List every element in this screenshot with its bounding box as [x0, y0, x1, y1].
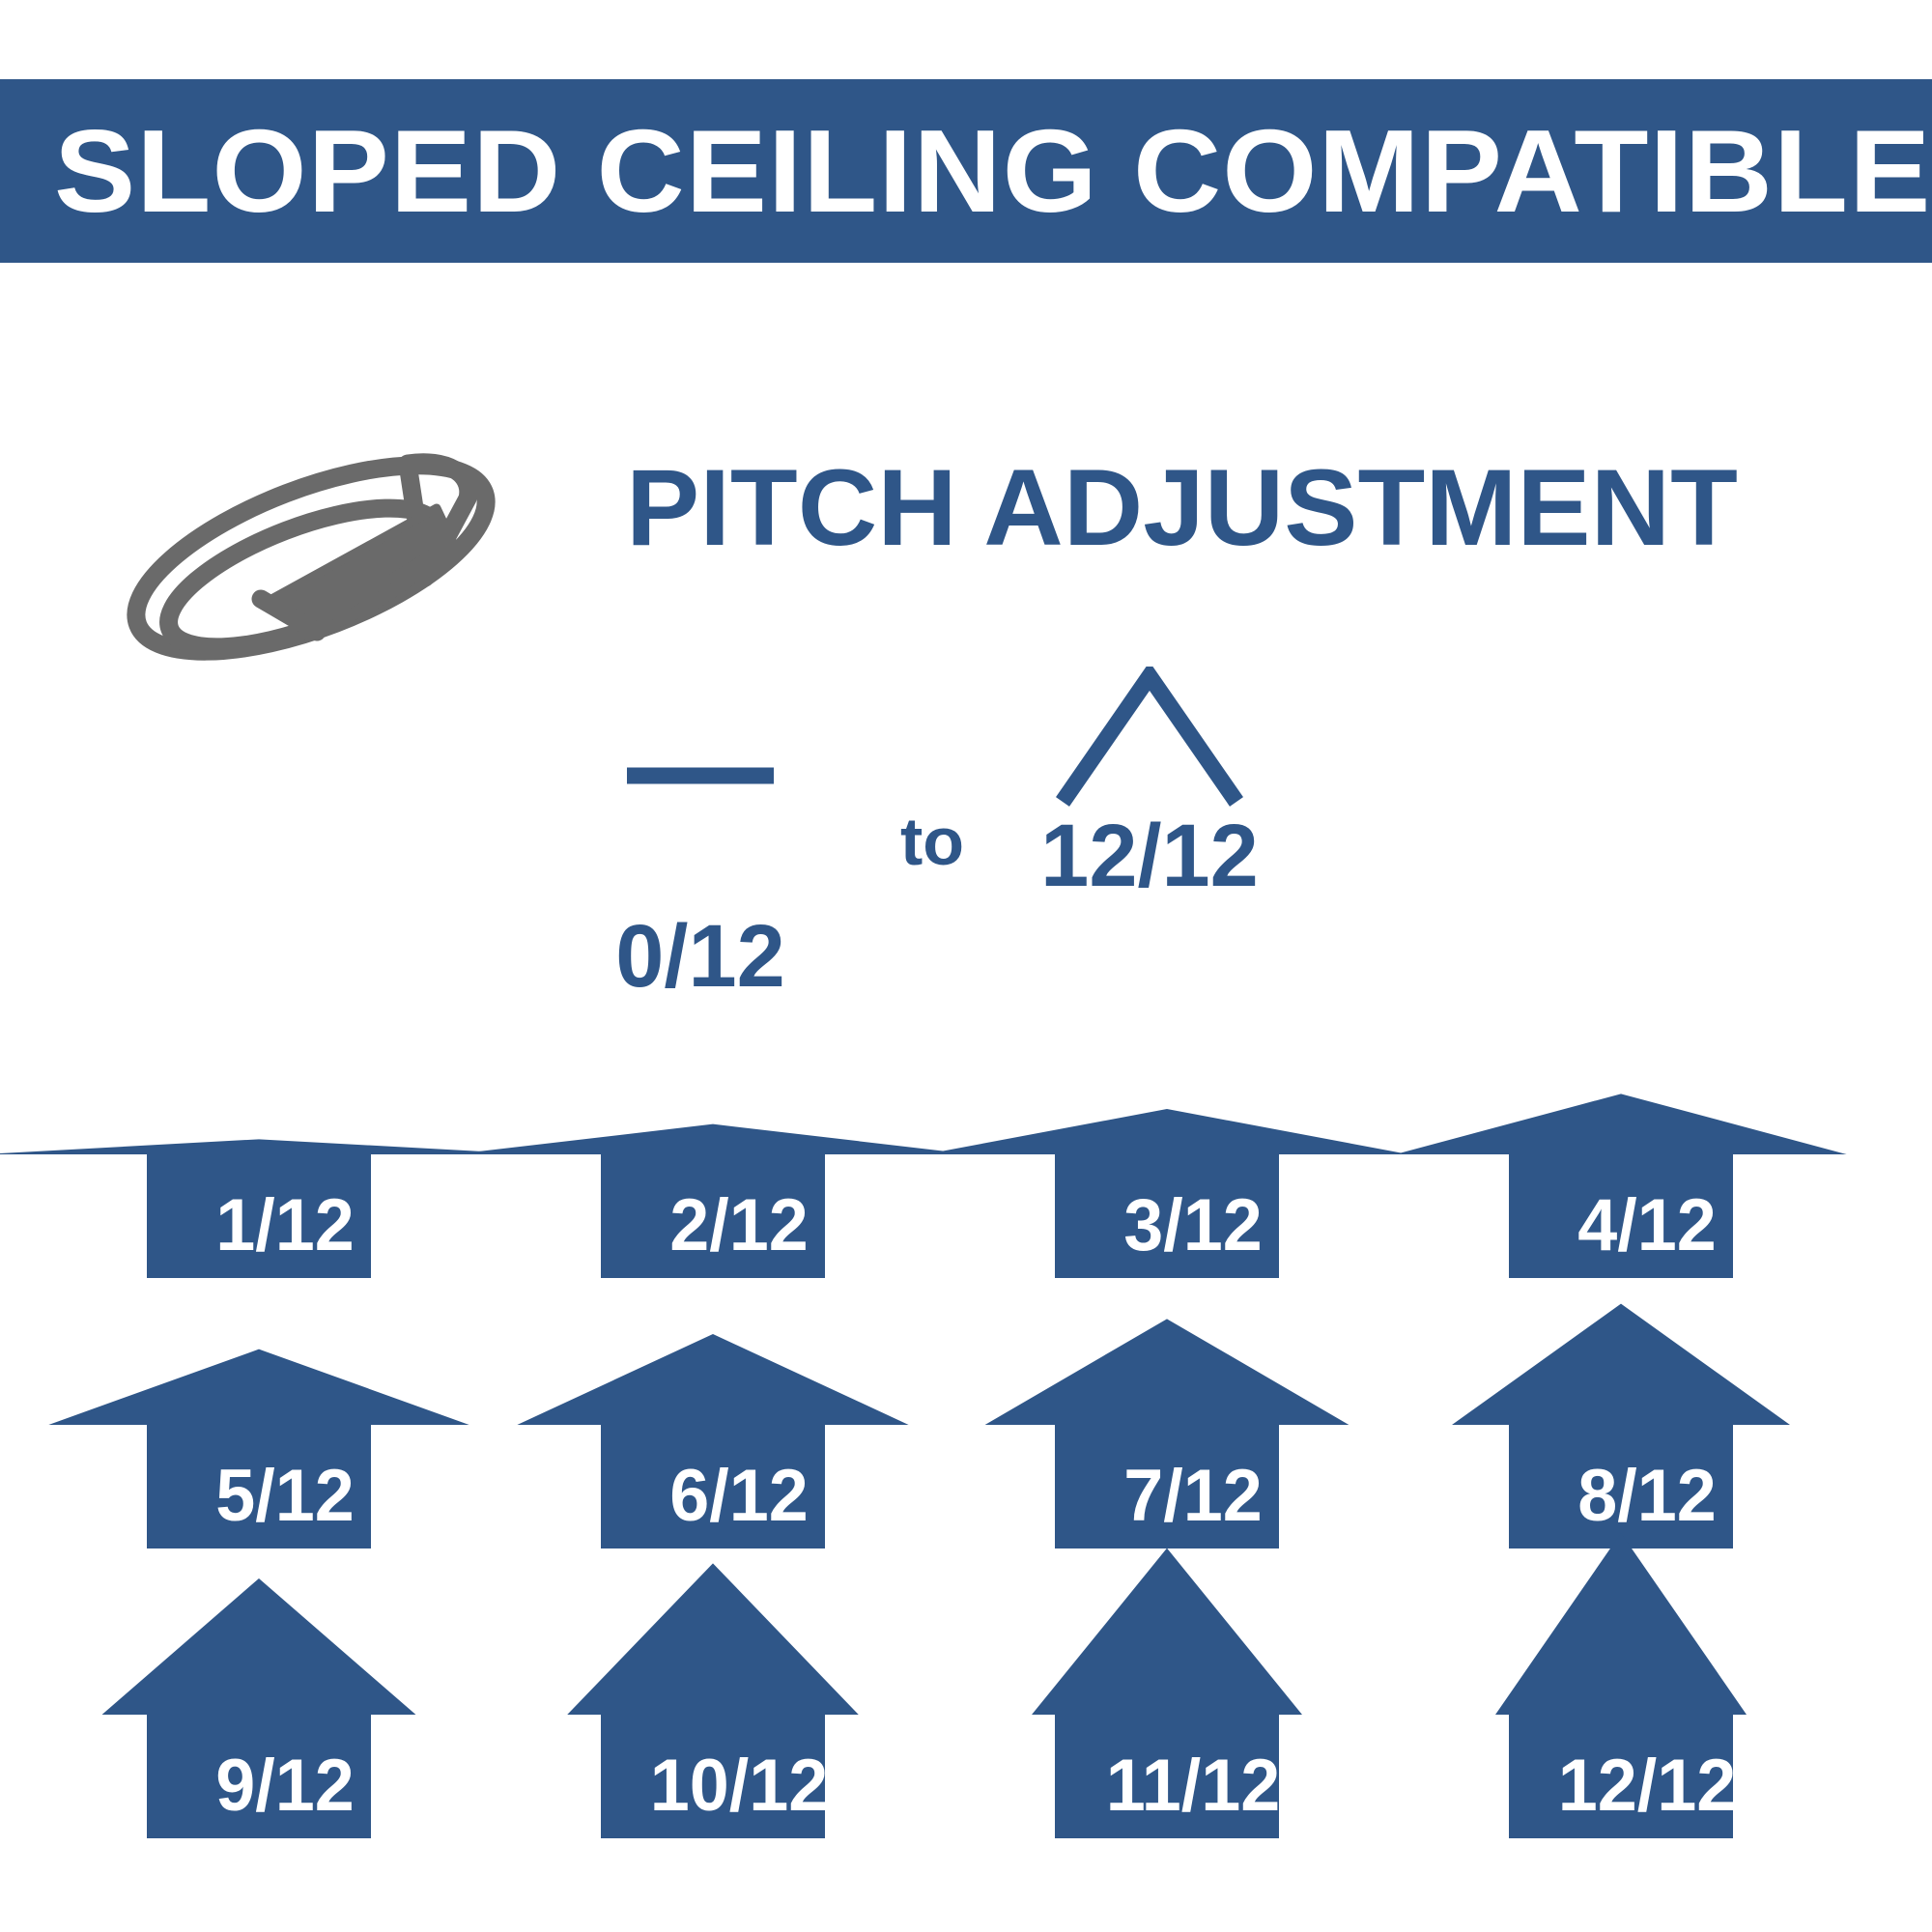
house-silhouette	[517, 1334, 908, 1548]
pitch-house: 12/12	[1420, 1570, 1874, 1860]
pitch-house: 5/12	[58, 1280, 512, 1570]
pitch-house: 7/12	[966, 1280, 1420, 1570]
pitch-house: 1/12	[58, 1009, 512, 1299]
pitch-house-shape	[1420, 1009, 1874, 1299]
pitch-house: 10/12	[512, 1570, 966, 1860]
pitch-house-shape	[966, 1570, 1420, 1860]
range-min-label: 0/12	[582, 912, 819, 1001]
pitch-house: 11/12	[966, 1570, 1420, 1860]
pitch-house: 8/12	[1420, 1280, 1874, 1570]
house-silhouette	[1452, 1304, 1790, 1548]
steep-roof-peak-icon	[1053, 667, 1246, 811]
ceiling-fan-icon	[118, 394, 572, 752]
range-min: 0/12	[580, 667, 821, 1001]
house-silhouette	[567, 1563, 859, 1838]
house-silhouette	[1032, 1548, 1302, 1838]
house-silhouette	[925, 1109, 1409, 1278]
pitch-house-shape	[58, 1570, 512, 1860]
house-silhouette	[102, 1578, 416, 1838]
steep-roof-glyph	[1009, 667, 1290, 811]
pitch-range-row: 0/12 to 12/12	[580, 667, 1372, 947]
pitch-house-shape	[58, 1009, 512, 1299]
pitch-house: 9/12	[58, 1570, 512, 1860]
ceiling-fan-icon-svg	[118, 394, 572, 752]
house-row: 5/126/127/128/12	[58, 1290, 1874, 1570]
house-silhouette	[48, 1350, 469, 1548]
pitch-house-shape	[1420, 1570, 1874, 1860]
pitch-house-shape	[1420, 1280, 1874, 1570]
house-silhouette	[0, 1139, 536, 1278]
pitch-house: 3/12	[966, 1009, 1420, 1299]
pitch-house-shape	[512, 1570, 966, 1860]
range-max: 12/12	[1009, 667, 1290, 900]
flat-roof-glyph	[580, 667, 821, 912]
pitch-house: 4/12	[1420, 1009, 1874, 1299]
house-row: 9/1210/1211/1212/12	[58, 1579, 1874, 1860]
page-title: SLOPED CEILING COMPATIBLE	[54, 112, 1931, 230]
flat-roof-line-icon	[622, 767, 779, 784]
pitch-house-shape	[966, 1009, 1420, 1299]
pitch-house-grid: 1/122/123/124/12 5/126/127/128/12 9/1210…	[58, 1019, 1874, 1889]
pitch-house-shape	[58, 1280, 512, 1570]
pitch-house: 2/12	[512, 1009, 966, 1299]
house-silhouette	[454, 1124, 972, 1278]
pitch-house-shape	[966, 1280, 1420, 1570]
house-silhouette	[1395, 1094, 1846, 1278]
house-silhouette	[1495, 1533, 1747, 1838]
house-row: 1/122/123/124/12	[58, 1019, 1874, 1299]
pitch-adjustment-heading: PITCH ADJUSTMENT	[626, 454, 1738, 562]
house-silhouette	[985, 1319, 1350, 1548]
pitch-house-shape	[512, 1280, 966, 1570]
range-connector: to	[865, 808, 1000, 875]
range-max-label: 12/12	[1012, 811, 1287, 900]
header-banner: SLOPED CEILING COMPATIBLE	[0, 79, 1932, 263]
pitch-house: 6/12	[512, 1280, 966, 1570]
pitch-house-shape	[512, 1009, 966, 1299]
